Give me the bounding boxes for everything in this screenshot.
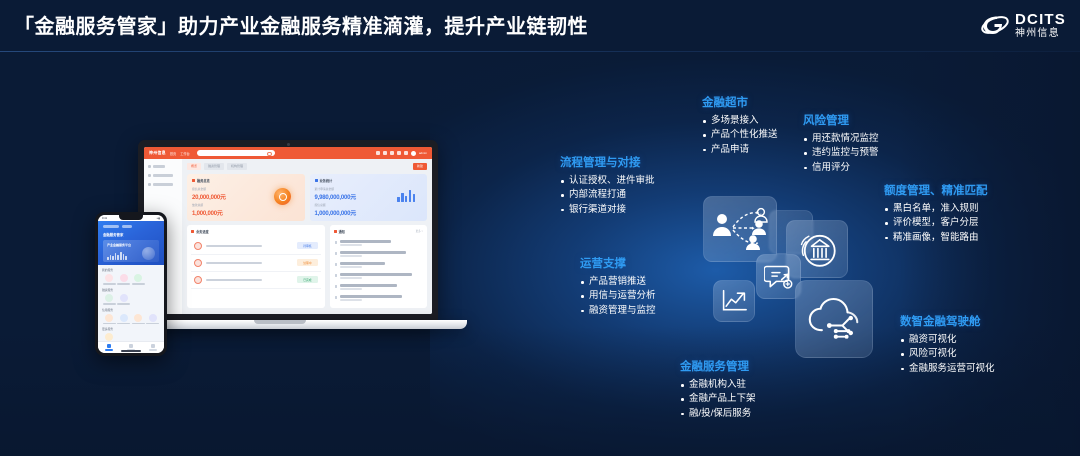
service-icon [120, 314, 128, 322]
feature-item: 多场景接入 [702, 114, 778, 128]
feature-item: 金融机构入驻 [680, 378, 756, 392]
stat-card-header: 业务统计 [315, 178, 423, 183]
phone-grid-item[interactable] [146, 314, 161, 325]
bank-coin-icon [797, 229, 837, 269]
list-item[interactable] [334, 249, 423, 260]
gear-icon[interactable] [404, 151, 408, 155]
logo-en: DCITS [1015, 12, 1066, 27]
phone-section: 融资服务 [98, 285, 164, 305]
list-item[interactable] [334, 260, 423, 271]
list-item[interactable] [334, 282, 423, 293]
card-marker-icon [192, 179, 195, 182]
stat-card-header: 融资总览 [192, 178, 300, 183]
feature-item: 金融产品上下架 [680, 392, 756, 406]
laptop-camera-icon [287, 143, 290, 146]
help-icon[interactable] [397, 151, 401, 155]
phone-grid-label [132, 323, 145, 325]
feature-title: 额度管理、精准匹配 [884, 182, 988, 198]
tile-cloud-computing [795, 280, 873, 358]
row-text [206, 245, 293, 247]
feature-title: 数智金融驾驶舱 [900, 313, 995, 329]
phone-icon-grid [102, 274, 160, 285]
business-progress-panel: 业务进度 待审核 处理中 [187, 225, 325, 308]
growth-chart-icon [720, 288, 748, 314]
chat-finance-icon [764, 263, 794, 291]
feature-item: 产品申请 [702, 143, 778, 157]
sidebar-item[interactable] [148, 174, 178, 177]
slide-header: 「金融服务管家」助力产业金融服务精准滴灌，提升产业链韧性 DCITS 神州信息 [0, 0, 1080, 52]
sidebar-item-icon [148, 183, 151, 186]
phone-app-title: 金融服务管家 [103, 232, 159, 237]
tile-growth-chart [713, 280, 755, 322]
phone-grid-item[interactable] [117, 274, 132, 285]
phone-grid-label [103, 323, 116, 325]
phone-hero: 金融服务管家 产业金融服务平台 [98, 221, 164, 265]
feature-block-supermarket: 金融超市 多场景接入 产品个性化推送 产品申请 [702, 94, 778, 157]
message-icon[interactable] [390, 151, 394, 155]
dashboard-tabs: 概览 融资管理 机构管理 新建 [187, 163, 427, 170]
feature-block-cockpit: 数智金融驾驶舱 融资可视化 风险可视化 金融服务运营可视化 [900, 313, 995, 376]
phone-grid-label [146, 323, 159, 325]
device-mockups: 神州信息 首页 工作台 admin [95, 140, 465, 360]
feature-title: 运营支撑 [580, 255, 656, 271]
service-icon [149, 314, 157, 322]
feature-item: 违约监控与预警 [803, 146, 879, 160]
people-network-icon [711, 206, 769, 252]
tile-people-network [703, 196, 777, 262]
phone-banner-title: 产业金融服务平台 [103, 240, 159, 247]
panel-header: 通知 更多 > [334, 229, 423, 234]
list-item[interactable] [334, 293, 423, 304]
phone-tab-mine[interactable] [149, 344, 157, 351]
laptop-screen: 神州信息 首页 工作台 admin [144, 147, 432, 314]
status-ring-icon [194, 276, 202, 284]
feature-item: 精准画像，智能路由 [884, 231, 988, 245]
row-text [206, 262, 293, 264]
status-badge: 待审核 [297, 242, 317, 249]
sidebar-item[interactable] [148, 165, 178, 168]
sidebar-item-label [153, 174, 173, 177]
feature-block-operations: 运营支撑 产品营销推送 用信与运营分析 融资管理与监控 [580, 255, 656, 318]
stat-label: 授信总额 [315, 203, 423, 207]
phone-tab-home[interactable] [105, 344, 113, 351]
phone-grid-label [132, 283, 145, 285]
phone-icon-grid [102, 294, 160, 305]
feature-list: 多场景接入 产品个性化推送 产品申请 [702, 114, 778, 157]
row-text [206, 279, 293, 281]
service-icon [105, 314, 113, 322]
phone-nav-pill[interactable] [103, 225, 119, 228]
phone-grid-item[interactable] [131, 274, 146, 285]
status-ring-icon [194, 242, 202, 250]
dashboard-topbar: 神州信息 首页 工作台 admin [144, 147, 432, 159]
phone-grid-label [103, 283, 116, 285]
stat-card-title: 融资总览 [197, 178, 210, 183]
feature-list: 金融机构入驻 金融产品上下架 融/投/保后服务 [680, 378, 756, 421]
doc-icon [335, 285, 338, 288]
dashboard-body: 概览 融资管理 机构管理 新建 融资总览 授信总金额 [144, 159, 432, 314]
sidebar-item[interactable] [148, 183, 178, 186]
phone-section: 我的服务 [98, 265, 164, 285]
service-icon [105, 274, 113, 282]
phone-home-indicator [121, 350, 141, 352]
doc-icon [335, 252, 338, 255]
feature-title: 金融服务管理 [680, 358, 756, 374]
doc-icon [335, 263, 338, 266]
stat-value: 1,000,000元 [192, 208, 300, 217]
feature-list: 用还款情况监控 违约监控与预警 信用评分 [803, 132, 879, 175]
doc-icon [335, 274, 338, 277]
feature-item: 银行渠道对接 [560, 203, 655, 217]
calendar-icon[interactable] [376, 151, 380, 155]
phone-grid-item[interactable] [102, 274, 117, 285]
doc-icon [335, 296, 338, 299]
panel-header: 业务进度 [191, 229, 321, 234]
swoosh-logo-icon [980, 12, 1010, 38]
financing-orb-graphic [274, 188, 291, 205]
status-badge: 已完成 [297, 276, 317, 283]
tab-financing[interactable]: 融资管理 [204, 163, 224, 170]
card-marker-icon [315, 179, 318, 182]
icon-cluster [703, 192, 873, 362]
feature-item: 金融服务运营可视化 [900, 362, 995, 376]
feature-block-financial-management: 金融服务管理 金融机构入驻 金融产品上下架 融/投/保后服务 [680, 358, 756, 421]
feature-title: 流程管理与对接 [560, 154, 655, 170]
phone-section-title: 融资服务 [102, 288, 160, 292]
user-icon [151, 344, 155, 348]
list-item[interactable] [334, 238, 423, 249]
phone-notch [119, 215, 143, 220]
phone-mockup: 9:41 ▪▪▮ 金融服务管家 产业金融服务平台 [95, 212, 167, 356]
table-row[interactable]: 已完成 [191, 272, 321, 289]
feature-list: 产品营销推送 用信与运营分析 融资管理与监控 [580, 275, 656, 318]
table-row[interactable]: 待审核 [191, 238, 321, 255]
phone-grid-label [117, 303, 130, 305]
sidebar-item-label [153, 165, 165, 168]
feature-list: 融资可视化 风险可视化 金融服务运营可视化 [900, 333, 995, 376]
phone-grid-item[interactable] [102, 314, 117, 325]
sidebar-item-icon [148, 165, 151, 168]
dashboard-brand: 神州信息 [149, 150, 166, 156]
brand-logo: DCITS 神州信息 [980, 8, 1066, 42]
service-icon [129, 344, 133, 348]
feature-title: 金融超市 [702, 94, 778, 110]
service-icon [134, 274, 142, 282]
service-icon [105, 294, 113, 302]
phone-hero-nav [103, 225, 159, 228]
notice-panel: 通知 更多 > [330, 225, 427, 308]
feature-item: 融资管理与监控 [580, 304, 656, 318]
slide-canvas: 「金融服务管家」助力产业金融服务精准滴灌，提升产业链韧性 DCITS 神州信息 … [0, 0, 1080, 456]
service-icon [120, 294, 128, 302]
phone-banner[interactable]: 产业金融服务平台 [103, 240, 159, 262]
phone-screen: 9:41 ▪▪▮ 金融服务管家 产业金融服务平台 [98, 215, 164, 353]
logo-text: DCITS 神州信息 [1015, 12, 1066, 39]
cloud-computing-icon [807, 295, 861, 343]
phone-status-icons: ▪▪▮ [157, 217, 160, 220]
bell-icon[interactable] [383, 151, 387, 155]
dashboard-nav-item[interactable]: 工作台 [180, 151, 190, 156]
table-row[interactable]: 处理中 [191, 255, 321, 272]
stat-card-business: 业务统计 累计申请总金额 9,980,000,000元 授信总额 1,000,0… [310, 174, 428, 221]
feature-item: 产品个性化推送 [702, 128, 778, 142]
phone-grid-label [117, 283, 130, 285]
dashboard-topbar-actions: admin [376, 151, 427, 156]
phone-grid-item[interactable] [117, 314, 132, 325]
service-icon [120, 274, 128, 282]
tab-overview[interactable]: 概览 [187, 163, 201, 170]
dashboard-username: admin [419, 151, 427, 155]
feature-item: 认证授权、进件审批 [560, 174, 655, 188]
tab-institutions[interactable]: 机构管理 [227, 163, 247, 170]
phone-globe-icon [142, 247, 155, 260]
dashboard-nav: 首页 工作台 [170, 151, 190, 156]
phone-icon-grid [102, 314, 160, 325]
dashboard-lower: 业务进度 待审核 处理中 [187, 225, 427, 308]
panel-marker-icon [334, 230, 337, 233]
dashboard-main: 概览 融资管理 机构管理 新建 融资总览 授信总金额 [182, 159, 432, 314]
phone-tab-label [149, 349, 157, 351]
feature-title: 风险管理 [803, 112, 879, 128]
feature-item: 融/投/保后服务 [680, 407, 756, 421]
sidebar-item-label [153, 183, 173, 186]
phone-nav-pill[interactable] [122, 225, 132, 228]
feature-item: 黑白名单，准入规则 [884, 202, 988, 216]
bar-chart-graphic [397, 189, 415, 202]
panel-title: 通知 [339, 229, 345, 234]
feature-list: 黑白名单，准入规则 评价模型，客户分层 精准画像，智能路由 [884, 202, 988, 245]
stat-card-title: 业务统计 [320, 178, 333, 183]
phone-section-title: 信用服务 [102, 308, 160, 312]
feature-item: 评价模型，客户分层 [884, 216, 988, 230]
feature-list: 认证授权、进件审批 内部流程打通 银行渠道对接 [560, 174, 655, 217]
laptop-mockup: 神州信息 首页 工作台 admin [138, 140, 438, 322]
phone-tab-label [105, 349, 113, 351]
dashboard-nav-item[interactable]: 首页 [170, 151, 176, 156]
page-title: 「金融服务管家」助力产业金融服务精准滴灌，提升产业链韧性 [14, 10, 588, 39]
phone-clock: 9:41 [102, 217, 107, 220]
feature-item: 融资可视化 [900, 333, 995, 347]
phone-grid-item[interactable] [102, 294, 117, 305]
doc-icon [335, 241, 338, 244]
phone-grid-item[interactable] [131, 314, 146, 325]
feature-item: 产品营销推送 [580, 275, 656, 289]
dashboard-search-input[interactable] [197, 150, 275, 156]
feature-block-quota: 额度管理、精准匹配 黑白名单，准入规则 评价模型，客户分层 精准画像，智能路由 [884, 182, 988, 245]
logo-cn: 神州信息 [1015, 29, 1066, 39]
dashboard-action-button[interactable]: 新建 [413, 163, 427, 170]
feature-block-process: 流程管理与对接 认证授权、进件审批 内部流程打通 银行渠道对接 [560, 154, 655, 217]
status-badge: 处理中 [297, 259, 317, 266]
feature-item: 信用评分 [803, 161, 879, 175]
phone-grid-item[interactable] [117, 294, 132, 305]
stat-value: 1,000,000,000元 [315, 208, 423, 217]
feature-item: 风险可视化 [900, 347, 995, 361]
panel-more-link[interactable]: 更多 > [416, 229, 423, 233]
phone-grid-label [103, 303, 116, 305]
feature-item: 内部流程打通 [560, 188, 655, 202]
laptop-base-notch [254, 320, 306, 324]
phone-section-title: 我的服务 [102, 268, 160, 272]
phone-grid-label [117, 323, 130, 325]
panel-marker-icon [191, 230, 194, 233]
status-ring-icon [194, 259, 202, 267]
feature-item: 用信与运营分析 [580, 289, 656, 303]
dashboard-stat-cards: 融资总览 授信总金额 20,000,000元 放款总额 1,000,000元 [187, 174, 427, 221]
service-icon [134, 314, 142, 322]
feature-block-risk: 风险管理 用还款情况监控 违约监控与预警 信用评分 [803, 112, 879, 175]
list-item[interactable] [334, 271, 423, 282]
stat-card-financing: 融资总览 授信总金额 20,000,000元 放款总额 1,000,000元 [187, 174, 305, 221]
avatar[interactable] [411, 151, 416, 156]
home-icon [107, 344, 111, 348]
phone-banner-bars-icon [107, 252, 127, 260]
sidebar-item-icon [148, 174, 151, 177]
phone-section-title: 更多服务 [102, 327, 160, 331]
phone-section: 信用服务 [98, 305, 164, 325]
feature-item: 用还款情况监控 [803, 132, 879, 146]
panel-title: 业务进度 [196, 229, 209, 234]
